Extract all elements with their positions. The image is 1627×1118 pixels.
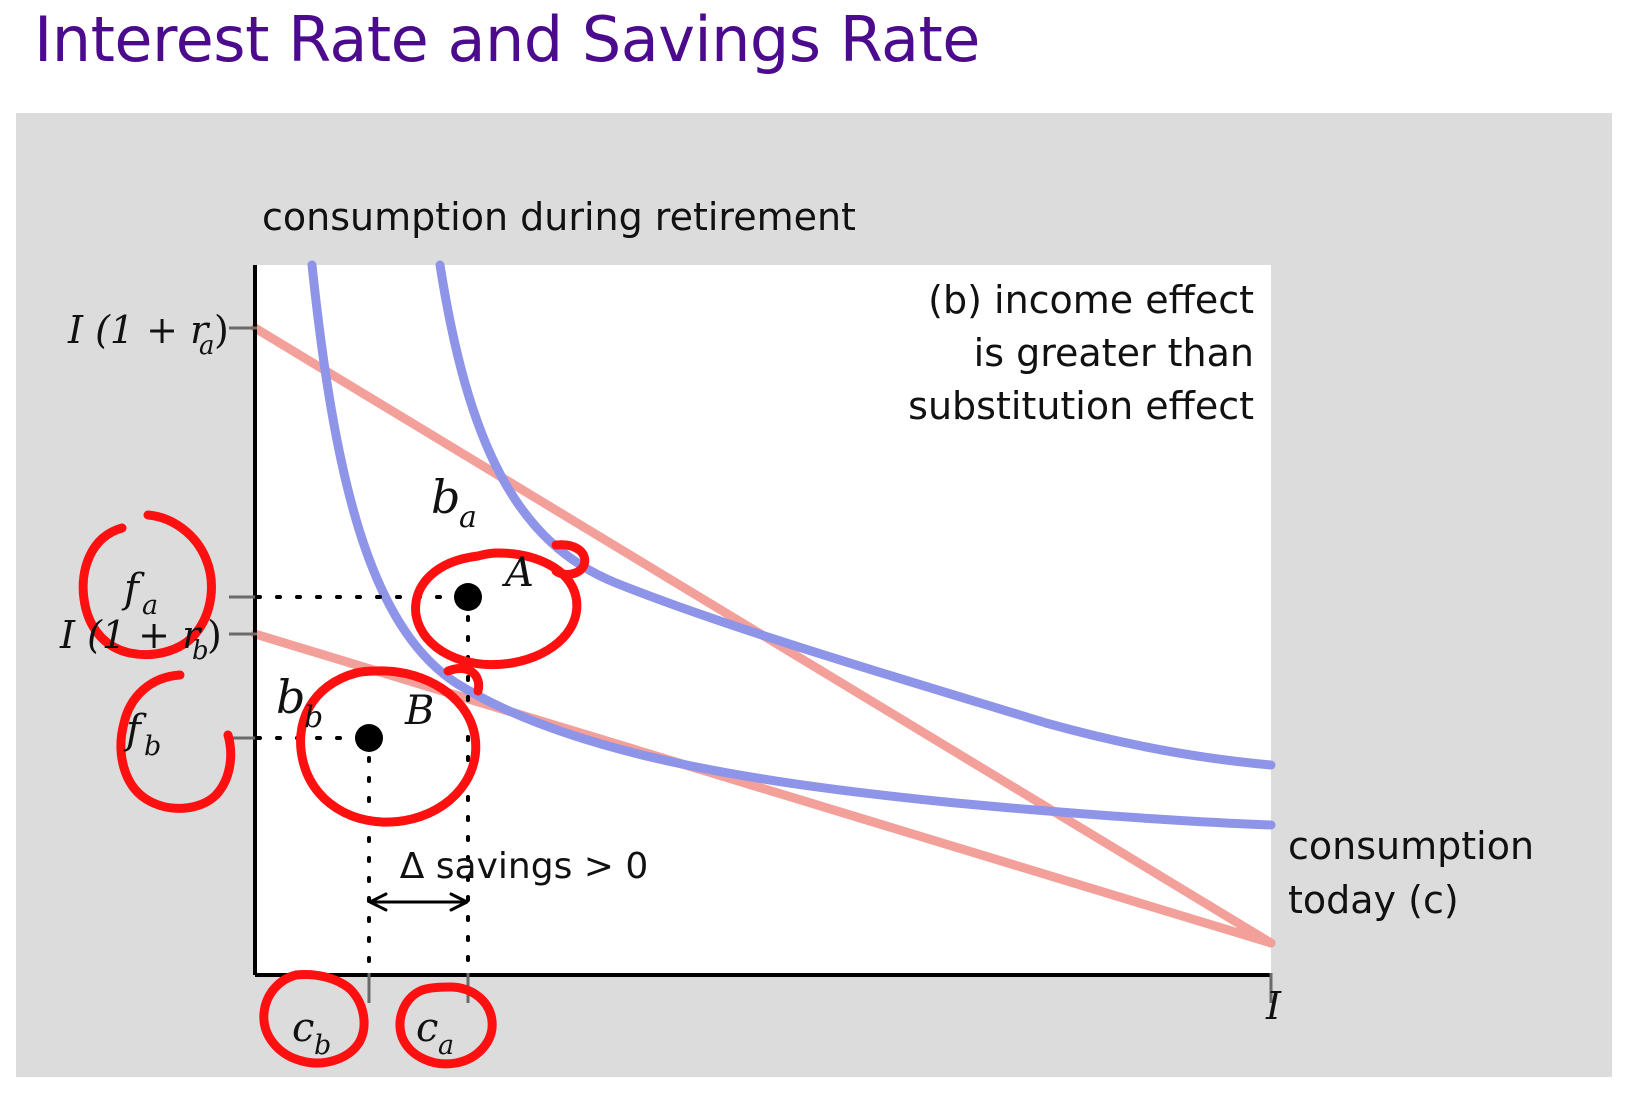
x-tick-label-cb: c b bbox=[292, 1005, 331, 1061]
annotation-line-1: (b) income effect bbox=[928, 278, 1254, 322]
y-axis-title: consumption during retirement bbox=[262, 195, 856, 239]
x-tick-label-ca: c a bbox=[416, 1005, 454, 1061]
y-tick-label-fb-sub: b bbox=[144, 731, 161, 762]
x-axis-title-line1: consumption bbox=[1288, 824, 1534, 868]
figure-panel: consumption during retirement (b) income… bbox=[16, 113, 1612, 1077]
x-axis-title-line2: today (c) bbox=[1288, 878, 1459, 922]
y-tick-label-rb-close: ) bbox=[207, 613, 222, 657]
curve-label-ba-sub: a bbox=[459, 500, 477, 535]
slide: Interest Rate and Savings Rate bbox=[0, 0, 1627, 1118]
y-tick-label-ra-sub: a bbox=[199, 331, 215, 361]
page-title: Interest Rate and Savings Rate bbox=[34, 4, 980, 76]
y-tick-label-ra-base: I (1 + r bbox=[67, 308, 211, 352]
x-tick-label-I: I bbox=[1265, 984, 1282, 1028]
annotation-line-2: is greater than bbox=[974, 331, 1254, 375]
point-label-A: A bbox=[501, 550, 534, 596]
savings-annotation-label: Δ savings > 0 bbox=[400, 846, 649, 887]
curve-label-bb-sub: b bbox=[304, 700, 323, 735]
y-tick-label-ra-close: ) bbox=[214, 308, 229, 352]
x-tick-label-cb-base: c bbox=[292, 1005, 314, 1051]
x-tick-label-cb-sub: b bbox=[314, 1030, 331, 1061]
curve-label-bb-base: b bbox=[276, 670, 305, 724]
y-tick-label-rb-base: I (1 + r bbox=[59, 613, 203, 657]
curve-label-ba-base: b bbox=[431, 470, 460, 524]
point-marker-B bbox=[355, 724, 383, 752]
figure-svg: consumption during retirement (b) income… bbox=[16, 113, 1612, 1077]
x-tick-label-ca-base: c bbox=[416, 1005, 438, 1051]
point-marker-A bbox=[454, 583, 482, 611]
y-tick-label-ra: I (1 + r a ) bbox=[67, 308, 229, 361]
point-label-B: B bbox=[404, 688, 434, 734]
annotation-line-3: substitution effect bbox=[908, 384, 1254, 428]
x-tick-label-ca-sub: a bbox=[438, 1030, 454, 1061]
y-tick-label-fb: f b bbox=[123, 707, 161, 762]
